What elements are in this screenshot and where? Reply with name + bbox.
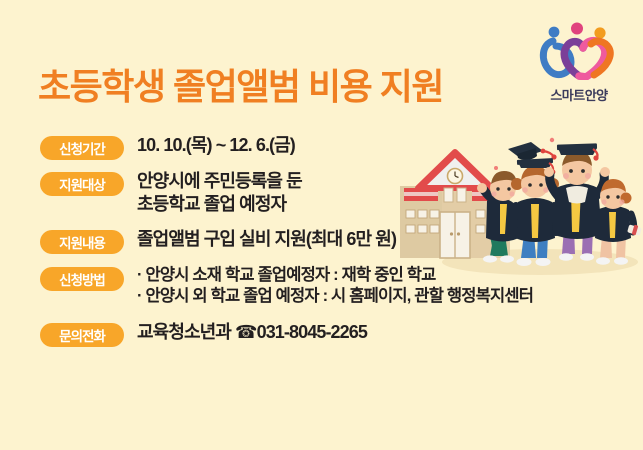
badge-application-method: 신청방법 xyxy=(40,267,124,291)
value-support-target: 안양시에 주민등록을 둔 초등학교 졸업 예정자 xyxy=(137,170,302,216)
info-row-period: 신청기간 10. 10.(목) ~ 12. 6.(금) xyxy=(40,134,640,160)
poster-canvas: 스마트안양 xyxy=(0,0,643,450)
badge-inquiry-phone: 문의전화 xyxy=(40,323,124,347)
logo-wordmark: 스마트안양 xyxy=(533,85,625,104)
badge-support-target: 지원대상 xyxy=(40,172,124,196)
badge-support-content: 지원내용 xyxy=(40,230,124,254)
info-row-content: 지원내용 졸업앨범 구입 실비 지원(최대 6만 원) xyxy=(40,228,640,254)
smart-anyang-heart-logo-icon xyxy=(539,22,619,80)
value-inquiry-phone: 교육청소년과 ☎031-8045-2265 xyxy=(137,321,367,344)
value-application-method: · 안양시 소재 학교 졸업예정자 : 재학 중인 학교 · 안양시 외 학교 … xyxy=(137,265,533,309)
value-application-period: 10. 10.(목) ~ 12. 6.(금) xyxy=(137,134,295,157)
info-row-phone: 문의전화 교육청소년과 ☎031-8045-2265 xyxy=(40,321,640,347)
smart-anyang-logo: 스마트안양 xyxy=(533,22,625,104)
value-support-content: 졸업앨범 구입 실비 지원(최대 6만 원) xyxy=(137,228,396,251)
badge-application-period: 신청기간 xyxy=(40,136,124,160)
info-row-target: 지원대상 안양시에 주민등록을 둔 초등학교 졸업 예정자 xyxy=(40,170,640,216)
info-row-method: 신청방법 · 안양시 소재 학교 졸업예정자 : 재학 중인 학교 · 안양시 … xyxy=(40,265,640,309)
page-title: 초등학생 졸업앨범 비용 지원 xyxy=(38,69,443,105)
info-list: 신청기간 10. 10.(목) ~ 12. 6.(금) 지원대상 안양시에 주민… xyxy=(40,134,640,355)
